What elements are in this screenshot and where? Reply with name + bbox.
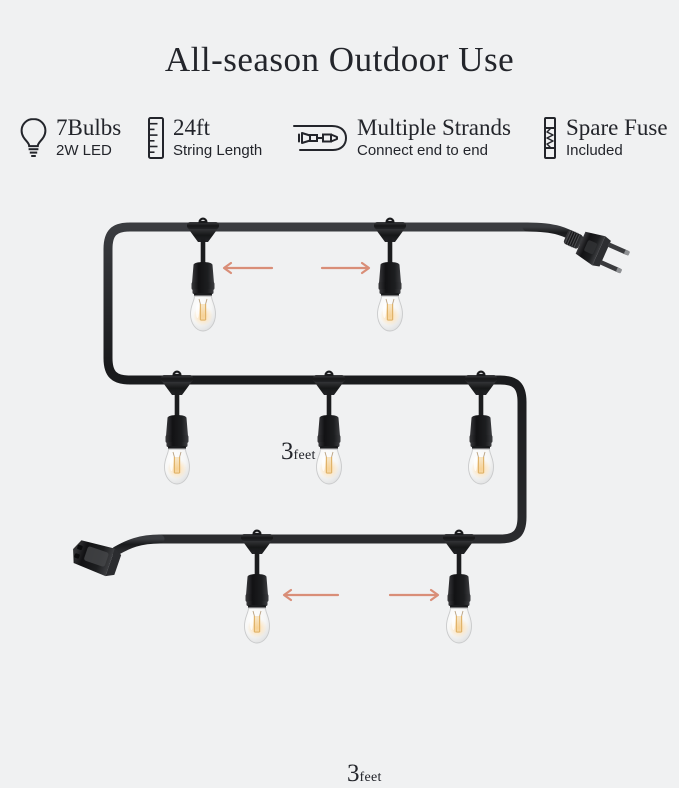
feature-item-length: 24ft String Length <box>146 116 262 165</box>
lamp-assembly <box>313 372 345 484</box>
feature-subtext: Connect end to end <box>357 143 511 158</box>
infographic-canvas: All-season Outdoor Use 7Bulbs 2W LED <box>0 0 679 679</box>
lamp-assembly <box>465 372 497 484</box>
feature-headline: Multiple Strands <box>357 116 511 139</box>
feature-subtext: 2W LED <box>56 143 121 158</box>
dimension-label-top: 3feet <box>281 438 316 466</box>
feature-item-bulbs: 7Bulbs 2W LED <box>18 116 121 165</box>
feature-headline: 7Bulbs <box>56 116 121 139</box>
page-title: All-season Outdoor Use <box>0 40 679 80</box>
diagram-svg <box>0 180 679 679</box>
dimension-number: 3 <box>347 760 360 787</box>
feature-headline: Spare Fuse <box>566 116 668 139</box>
fuse-icon <box>541 116 559 165</box>
lamp-assembly <box>374 219 406 331</box>
feature-item-strands: Multiple Strands Connect end to end <box>292 116 511 165</box>
feature-item-fuse: Spare Fuse Included <box>541 116 668 165</box>
plug-connect-icon <box>292 116 350 165</box>
feature-subtext: String Length <box>173 143 262 158</box>
feature-subtext: Included <box>566 143 668 158</box>
string-light-layout-diagram: 3feet 3feet <box>0 180 679 679</box>
feature-headline: 24ft <box>173 116 262 139</box>
dimension-arrow-top <box>224 263 369 273</box>
connector-tail-cable <box>116 539 160 551</box>
dimension-label-bottom: 3feet <box>347 760 382 788</box>
two-prong-plug-icon <box>559 222 631 278</box>
dimension-unit: feet <box>360 770 382 785</box>
dimension-arrow-bottom <box>284 590 438 600</box>
lamp-assembly <box>443 531 475 643</box>
socket-connector-icon <box>69 536 123 579</box>
ruler-icon <box>146 116 166 165</box>
feature-list: 7Bulbs 2W LED 24ft String Length <box>14 114 665 176</box>
light-bulb-icon <box>18 116 49 165</box>
lamp-assembly <box>187 219 219 331</box>
lamp-assembly <box>241 531 273 643</box>
dimension-unit: feet <box>294 448 316 463</box>
dimension-number: 3 <box>281 438 294 465</box>
lamp-assembly <box>161 372 193 484</box>
